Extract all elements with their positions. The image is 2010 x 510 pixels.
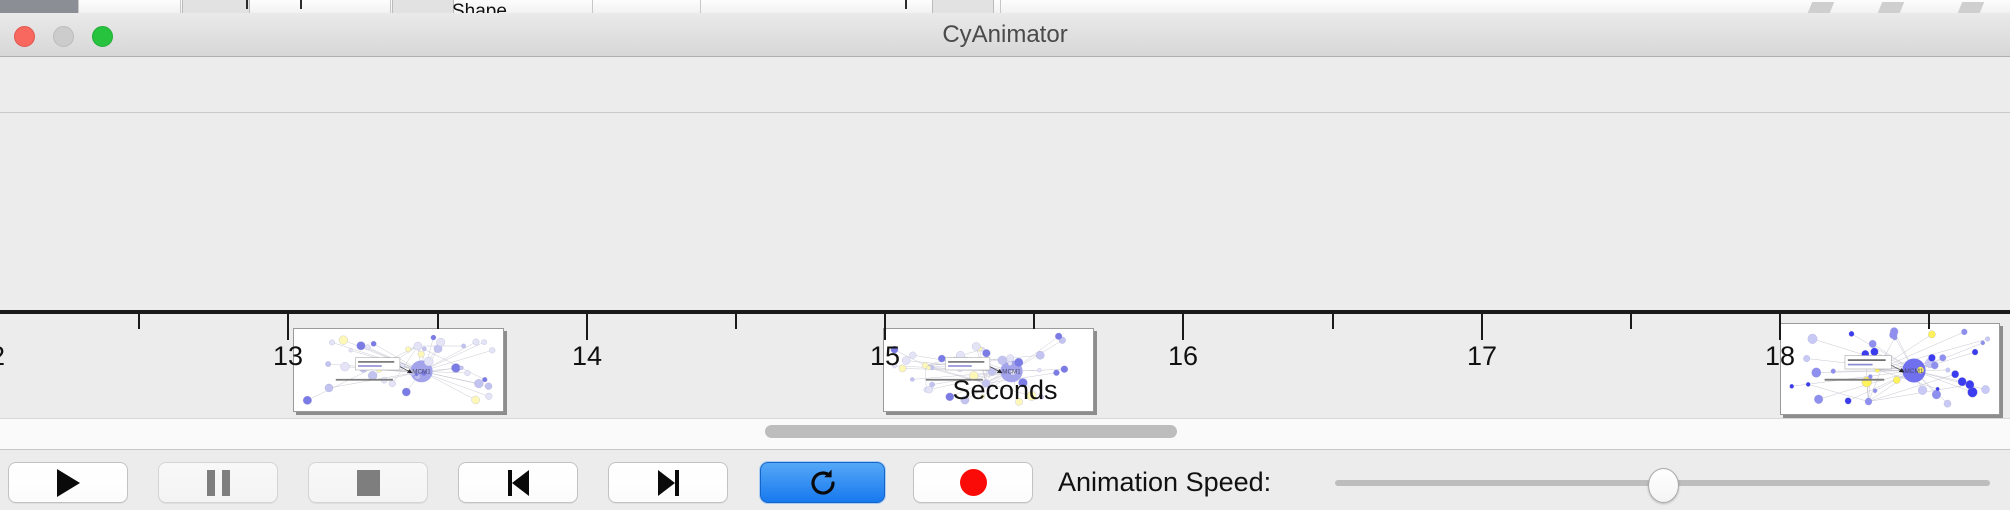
pause-button[interactable]	[158, 462, 278, 503]
stop-icon	[357, 470, 380, 496]
record-button[interactable]	[913, 462, 1033, 503]
axis-title: Seconds	[0, 375, 2010, 406]
axis-tick-major	[1182, 314, 1184, 340]
background-tick	[246, 0, 248, 9]
axis-tick-label: 12	[0, 341, 31, 372]
loop-button[interactable]	[760, 462, 885, 503]
pause-icon	[207, 470, 230, 496]
axis-tick-major	[1779, 314, 1781, 340]
stop-button[interactable]	[308, 462, 428, 503]
background-column-separator	[180, 0, 181, 13]
playback-control-bar: Animation Speed:	[0, 450, 2010, 510]
axis-tick-major	[287, 314, 289, 340]
skip-next-icon	[658, 470, 679, 496]
skip-to-end-button[interactable]	[608, 462, 728, 503]
background-cell	[182, 0, 250, 13]
background-cell	[392, 0, 454, 13]
axis-tick-minor	[1630, 314, 1632, 329]
scrollbar-thumb[interactable]	[765, 425, 1177, 438]
slider-thumb[interactable]	[1648, 468, 1679, 503]
axis-tick-major	[586, 314, 588, 340]
background-cell	[932, 0, 994, 13]
axis-tick-minor	[735, 314, 737, 329]
axis-tick-label: 17	[1441, 341, 1523, 372]
axis-tick-label: 15	[844, 341, 926, 372]
background-column-separator	[700, 0, 701, 13]
background-column-separator	[1000, 0, 1001, 13]
skip-previous-icon	[508, 470, 529, 496]
skip-to-start-button[interactable]	[458, 462, 578, 503]
timeline-scrollbar[interactable]	[0, 418, 2010, 450]
background-selected-tab	[0, 0, 78, 13]
background-tick	[905, 0, 907, 9]
play-icon	[57, 469, 80, 497]
background-slant	[1878, 2, 1904, 13]
axis-tick-minor	[138, 314, 140, 329]
timeline-panel[interactable]: MCM1MCM1MCM1 12131415161718 Seconds	[0, 113, 2010, 432]
axis-tick-major	[884, 314, 886, 340]
animation-speed-label: Animation Speed:	[1058, 462, 1271, 503]
window-title-bar: CyAnimator	[0, 13, 2010, 57]
background-tick	[300, 0, 302, 9]
animation-speed-slider[interactable]	[1335, 462, 1990, 503]
axis-tick-label: 13	[247, 341, 329, 372]
toolbar: Clear All Frames	[0, 58, 2010, 113]
record-icon	[960, 469, 987, 496]
loop-icon	[808, 468, 838, 498]
background-column-separator	[78, 0, 79, 13]
axis-tick-label: 16	[1142, 341, 1224, 372]
window-title: CyAnimator	[0, 13, 2010, 57]
svg-text:MCM1: MCM1	[1904, 368, 1924, 375]
play-button[interactable]	[8, 462, 128, 503]
background-column-separator	[390, 0, 391, 13]
axis-tick-minor	[1332, 314, 1334, 329]
background-slant	[1808, 2, 1834, 13]
axis-tick-minor	[1033, 314, 1035, 329]
background-window-strip: Shape	[0, 0, 2010, 14]
axis-tick-label: 14	[546, 341, 628, 372]
timeline-axis	[0, 310, 2010, 314]
axis-tick-major	[1481, 314, 1483, 340]
background-slant	[1958, 2, 1984, 13]
axis-tick-minor	[437, 314, 439, 329]
axis-tick-label: 18	[1739, 341, 1821, 372]
axis-tick-minor	[1928, 314, 1930, 329]
background-column-separator	[592, 0, 593, 13]
